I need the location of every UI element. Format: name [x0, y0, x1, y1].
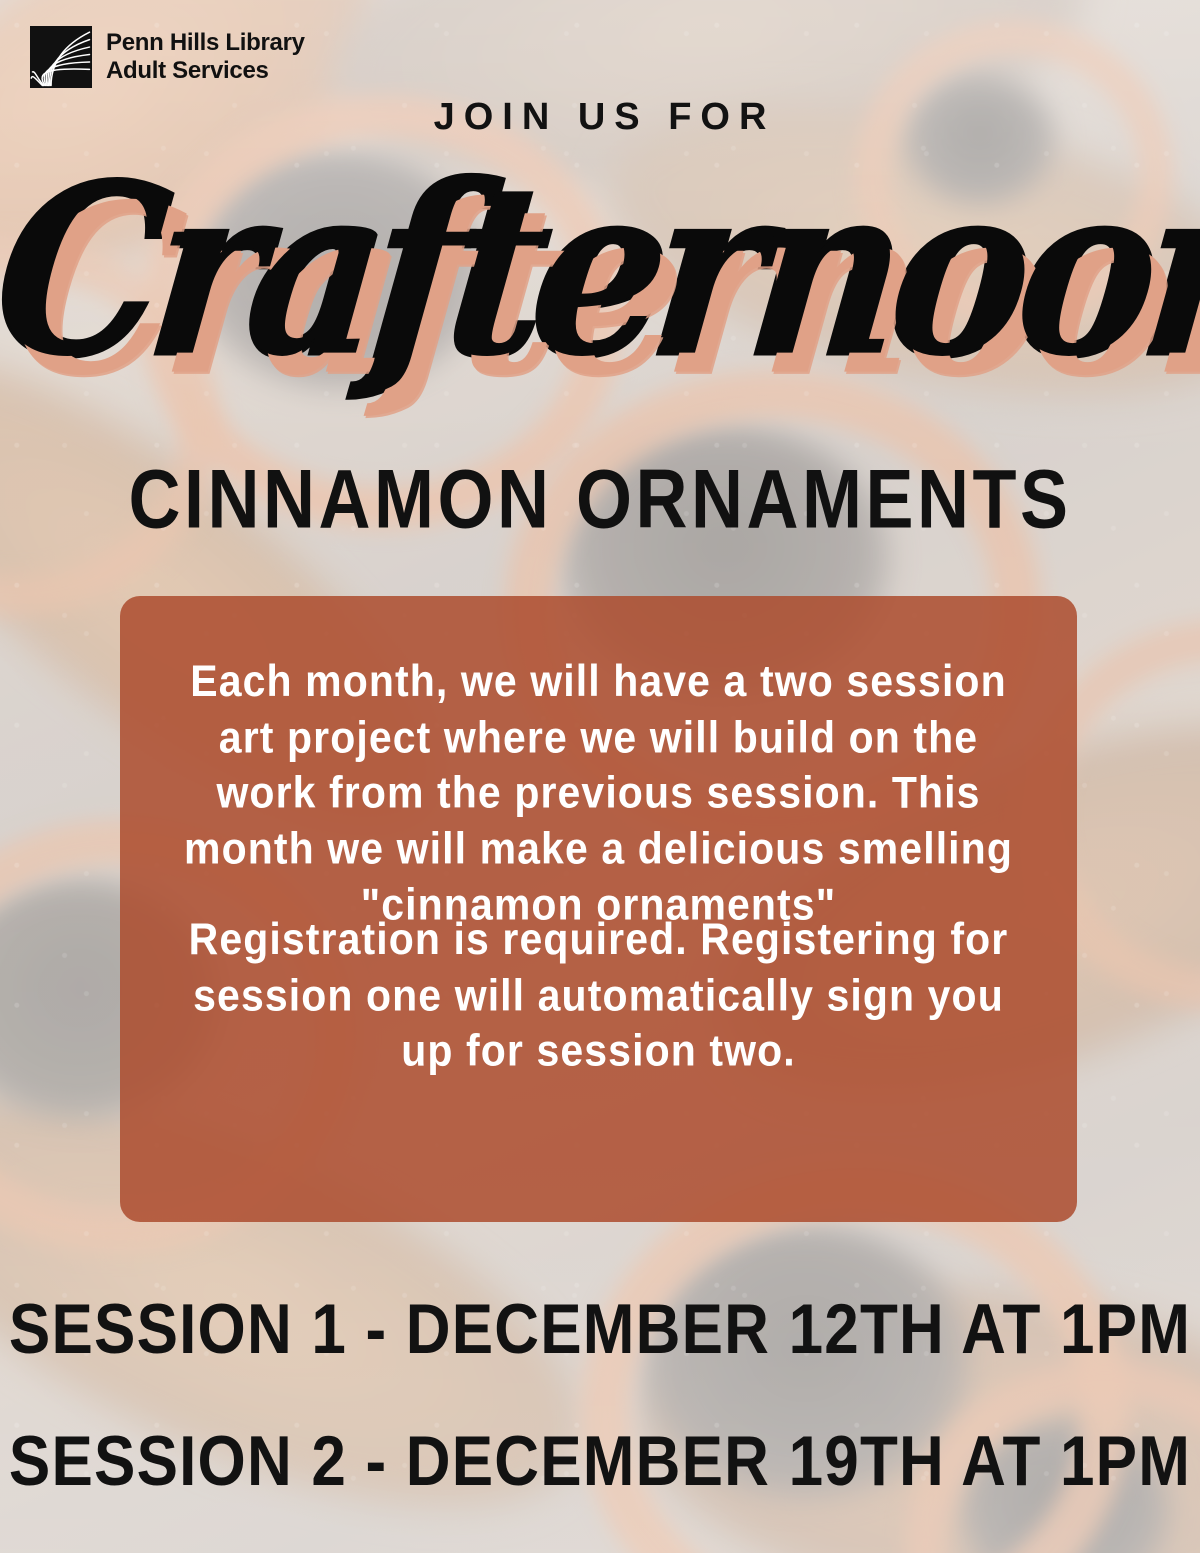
org-line-2: Adult Services: [106, 57, 305, 85]
description-panel: Each month, we will have a two session a…: [120, 596, 1077, 1222]
organization-logo-block: Penn Hills Library Adult Services: [30, 26, 305, 88]
session-1-line: SESSION 1 - DECEMBER 12TH AT 1PM: [0, 1289, 1200, 1370]
org-line-1: Penn Hills Library: [106, 29, 305, 57]
organization-name: Penn Hills Library Adult Services: [106, 29, 305, 85]
description-paragraph-2: Registration is required. Registering fo…: [164, 912, 1033, 1079]
session-2-line: SESSION 2 - DECEMBER 19TH AT 1PM: [0, 1421, 1200, 1502]
description-paragraph-1: Each month, we will have a two session a…: [164, 654, 1033, 933]
library-fan-logo-icon: [30, 26, 92, 88]
page-title: Crafternoons: [0, 156, 1200, 389]
script-title-wrapper: Crafternoons: [0, 168, 1200, 418]
kicker-text: JOIN US FOR: [0, 96, 1200, 139]
flyer-poster: Penn Hills Library Adult Services JOIN U…: [0, 0, 1200, 1553]
subtitle-text: CINNAMON ORNAMENTS: [0, 452, 1200, 547]
